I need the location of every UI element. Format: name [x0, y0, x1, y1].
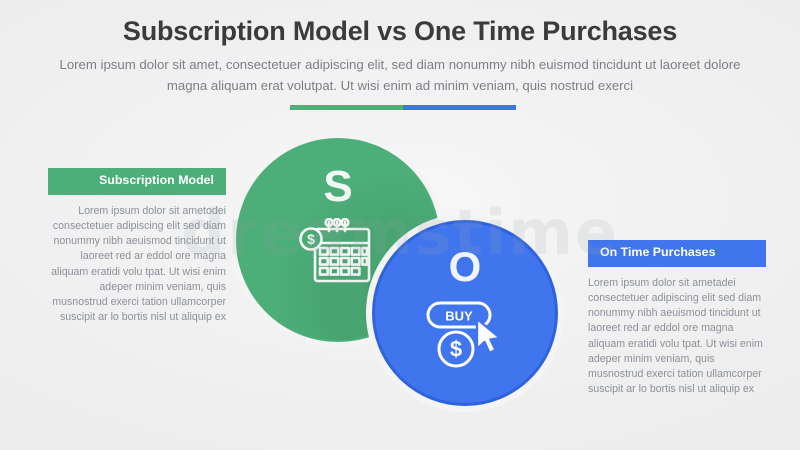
buy-button-cursor-coin-icon: BUY $	[422, 297, 508, 371]
svg-text:BUY: BUY	[445, 309, 473, 324]
block-one-time: On Time Purchases Lorem ipsum dolor sit …	[588, 240, 766, 398]
svg-text:$: $	[307, 231, 315, 247]
block-subscription-body: Lorem ipsum dolor sit ametodei consectet…	[48, 204, 226, 326]
block-one-time-body: Lorem ipsum dolor sit ametadei consectet…	[588, 276, 766, 398]
svg-text:$: $	[450, 337, 462, 362]
letter-o-mark: O	[449, 243, 482, 291]
circle-one-time[interactable]: O BUY $	[372, 220, 558, 406]
badge-subscription-model[interactable]: Subscription Model	[48, 168, 226, 195]
infographic-canvas: Subscription Model vs One Time Purchases…	[0, 0, 800, 450]
badge-on-time-purchases[interactable]: On Time Purchases	[588, 240, 766, 267]
letter-s-mark: S	[323, 162, 352, 212]
block-subscription: Subscription Model Lorem ipsum dolor sit…	[48, 168, 226, 326]
calendar-dollar-icon: $	[299, 218, 377, 286]
